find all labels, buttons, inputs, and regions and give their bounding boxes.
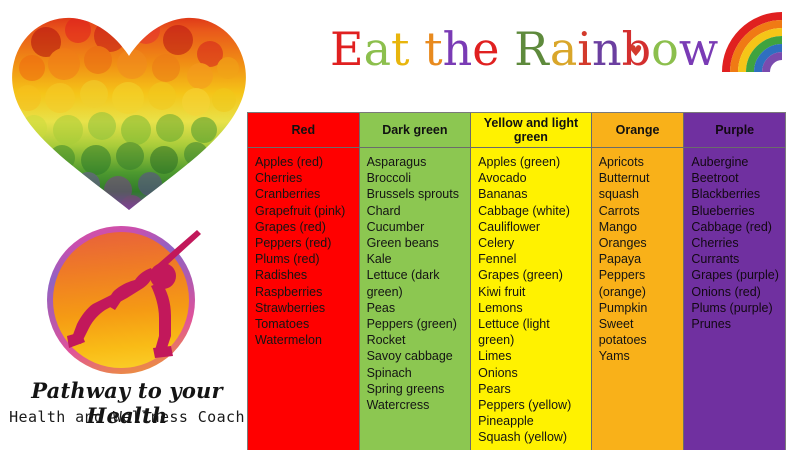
fruit-vegetable-heart-image xyxy=(6,2,252,220)
food-item: Squash (yellow) xyxy=(478,429,585,445)
table-header-label: Purple xyxy=(684,113,785,148)
pathway-to-your-health-logo: Pathway to your Health Health and Wellne… xyxy=(2,218,252,448)
table-header-label: Yellow and light green xyxy=(471,113,591,148)
food-item: Cherries xyxy=(255,170,353,186)
food-item: Rocket xyxy=(367,332,465,348)
food-item: Yams xyxy=(599,348,678,364)
food-item: Cherries xyxy=(691,235,779,251)
food-item: Peppers (green) xyxy=(367,316,465,332)
eat-the-rainbow-food-table: Red Dark green Yellow and light green Or… xyxy=(247,112,786,450)
food-item: Raspberries xyxy=(255,284,353,300)
food-item: Green beans xyxy=(367,235,465,251)
food-list-yellow-light-green: Apples (green)AvocadoBananasCabbage (whi… xyxy=(478,154,585,446)
food-item: Grapefruit (pink) xyxy=(255,203,353,219)
heart-accent-icon: ♥ xyxy=(629,20,642,82)
table-header-row: Red Dark green Yellow and light green Or… xyxy=(248,113,785,148)
title-letter: a xyxy=(364,22,391,76)
food-item: Strawberries xyxy=(255,300,353,316)
food-item: Onions (red) xyxy=(691,284,779,300)
food-item: Apricots xyxy=(599,154,678,170)
food-list-purple: AubergineBeetrootBlackberriesBlueberries… xyxy=(691,154,779,332)
food-item: Avocado xyxy=(478,170,585,186)
food-item: Prunes xyxy=(691,316,779,332)
title-letter: a xyxy=(550,22,577,76)
food-item: Radishes xyxy=(255,267,353,283)
table-header-orange: Orange xyxy=(592,113,685,148)
table-body-row: Apples (red)CherriesCranberriesGrapefrui… xyxy=(248,148,785,450)
food-item: Celery xyxy=(478,235,585,251)
rainbow-icon xyxy=(722,12,796,74)
food-item: Carrots xyxy=(599,203,678,219)
food-item: Apples (green) xyxy=(478,154,585,170)
table-header-dark-green: Dark green xyxy=(360,113,472,148)
page-title-text: Eat the Rai♥nbow xyxy=(330,22,718,76)
slide-canvas: Pathway to your Health Health and Wellne… xyxy=(0,0,800,450)
food-item: Spring greens xyxy=(367,381,465,397)
food-item: Cauliflower xyxy=(478,219,585,235)
food-item: Pineapple xyxy=(478,413,585,429)
food-item: Lettuce (light green) xyxy=(478,316,585,348)
food-item: Fennel xyxy=(478,251,585,267)
food-item: Tomatoes xyxy=(255,316,353,332)
table-header-label: Red xyxy=(248,113,359,148)
food-item: Mango xyxy=(599,219,678,235)
table-cell-purple: AubergineBeetrootBlackberriesBlueberries… xyxy=(684,148,785,450)
food-item: Butternut squash xyxy=(599,170,678,202)
table-header-red: Red xyxy=(248,113,360,148)
title-letter: t xyxy=(391,22,410,76)
table-header-label: Dark green xyxy=(360,113,471,148)
food-item: Peppers (red) xyxy=(255,235,353,251)
logo-subtitle: Health and Wellness Coach xyxy=(2,408,252,426)
food-item: Oranges xyxy=(599,235,678,251)
title-letter xyxy=(410,22,425,76)
food-item: Pumpkin xyxy=(599,300,678,316)
yoga-triangle-pose-figure xyxy=(47,224,207,376)
page-title: Eat the Rai♥nbow xyxy=(330,18,720,80)
logo-ring xyxy=(47,226,195,374)
food-item: Onions xyxy=(478,365,585,381)
title-letter: n xyxy=(592,22,622,76)
table-cell-yellow-light-green: Apples (green)AvocadoBananasCabbage (whi… xyxy=(471,148,592,450)
title-letter xyxy=(500,22,515,76)
food-item: Lettuce (dark green) xyxy=(367,267,465,299)
title-letter: e xyxy=(472,22,499,76)
food-item: Limes xyxy=(478,348,585,364)
food-item: Kiwi fruit xyxy=(478,284,585,300)
food-item: Plums (purple) xyxy=(691,300,779,316)
title-letter: t xyxy=(424,22,443,76)
food-item: Peppers (yellow) xyxy=(478,397,585,413)
food-item: Aubergine xyxy=(691,154,779,170)
food-item: Savoy cabbage xyxy=(367,348,465,364)
title-letter: o xyxy=(651,22,679,76)
table-cell-orange: ApricotsButternut squashCarrotsMangoOran… xyxy=(592,148,685,450)
food-item: Watercress xyxy=(367,397,465,413)
food-item: Lemons xyxy=(478,300,585,316)
table-header-label: Orange xyxy=(592,113,684,148)
food-item: Peas xyxy=(367,300,465,316)
food-item: Grapes (red) xyxy=(255,219,353,235)
title-letter: R xyxy=(514,22,550,76)
table-header-yellow-light-green: Yellow and light green xyxy=(471,113,592,148)
food-item: Pears xyxy=(478,381,585,397)
table-cell-dark-green: AsparagusBroccoliBrussels sproutsChardCu… xyxy=(360,148,472,450)
food-item: Cabbage (red) xyxy=(691,219,779,235)
food-item: Cabbage (white) xyxy=(478,203,585,219)
food-item: Blueberries xyxy=(691,203,779,219)
food-list-red: Apples (red)CherriesCranberriesGrapefrui… xyxy=(255,154,353,348)
food-item: Asparagus xyxy=(367,154,465,170)
logo-disc xyxy=(53,232,189,368)
food-item: Broccoli xyxy=(367,170,465,186)
title-letter: h xyxy=(443,22,473,76)
title-letter: E xyxy=(330,22,364,76)
food-item: Papaya xyxy=(599,251,678,267)
food-item: Kale xyxy=(367,251,465,267)
table-cell-red: Apples (red)CherriesCranberriesGrapefrui… xyxy=(248,148,360,450)
food-item: Grapes (green) xyxy=(478,267,585,283)
food-item: Beetroot xyxy=(691,170,779,186)
food-item: Apples (red) xyxy=(255,154,353,170)
food-item: Brussels sprouts xyxy=(367,186,465,202)
food-item: Currants xyxy=(691,251,779,267)
food-item: Grapes (purple) xyxy=(691,267,779,283)
food-item: Watermelon xyxy=(255,332,353,348)
food-item: Peppers (orange) xyxy=(599,267,678,299)
food-item: Chard xyxy=(367,203,465,219)
food-item: Cranberries xyxy=(255,186,353,202)
table-header-purple: Purple xyxy=(684,113,785,148)
food-list-dark-green: AsparagusBroccoliBrussels sproutsChardCu… xyxy=(367,154,465,413)
title-letter: w xyxy=(679,22,718,76)
food-item: Plums (red) xyxy=(255,251,353,267)
food-item: Bananas xyxy=(478,186,585,202)
food-item: Cucumber xyxy=(367,219,465,235)
food-item: Sweet potatoes xyxy=(599,316,678,348)
food-item: Spinach xyxy=(367,365,465,381)
food-item: Blackberries xyxy=(691,186,779,202)
food-list-orange: ApricotsButternut squashCarrotsMangoOran… xyxy=(599,154,678,365)
title-letter: i xyxy=(577,22,592,76)
